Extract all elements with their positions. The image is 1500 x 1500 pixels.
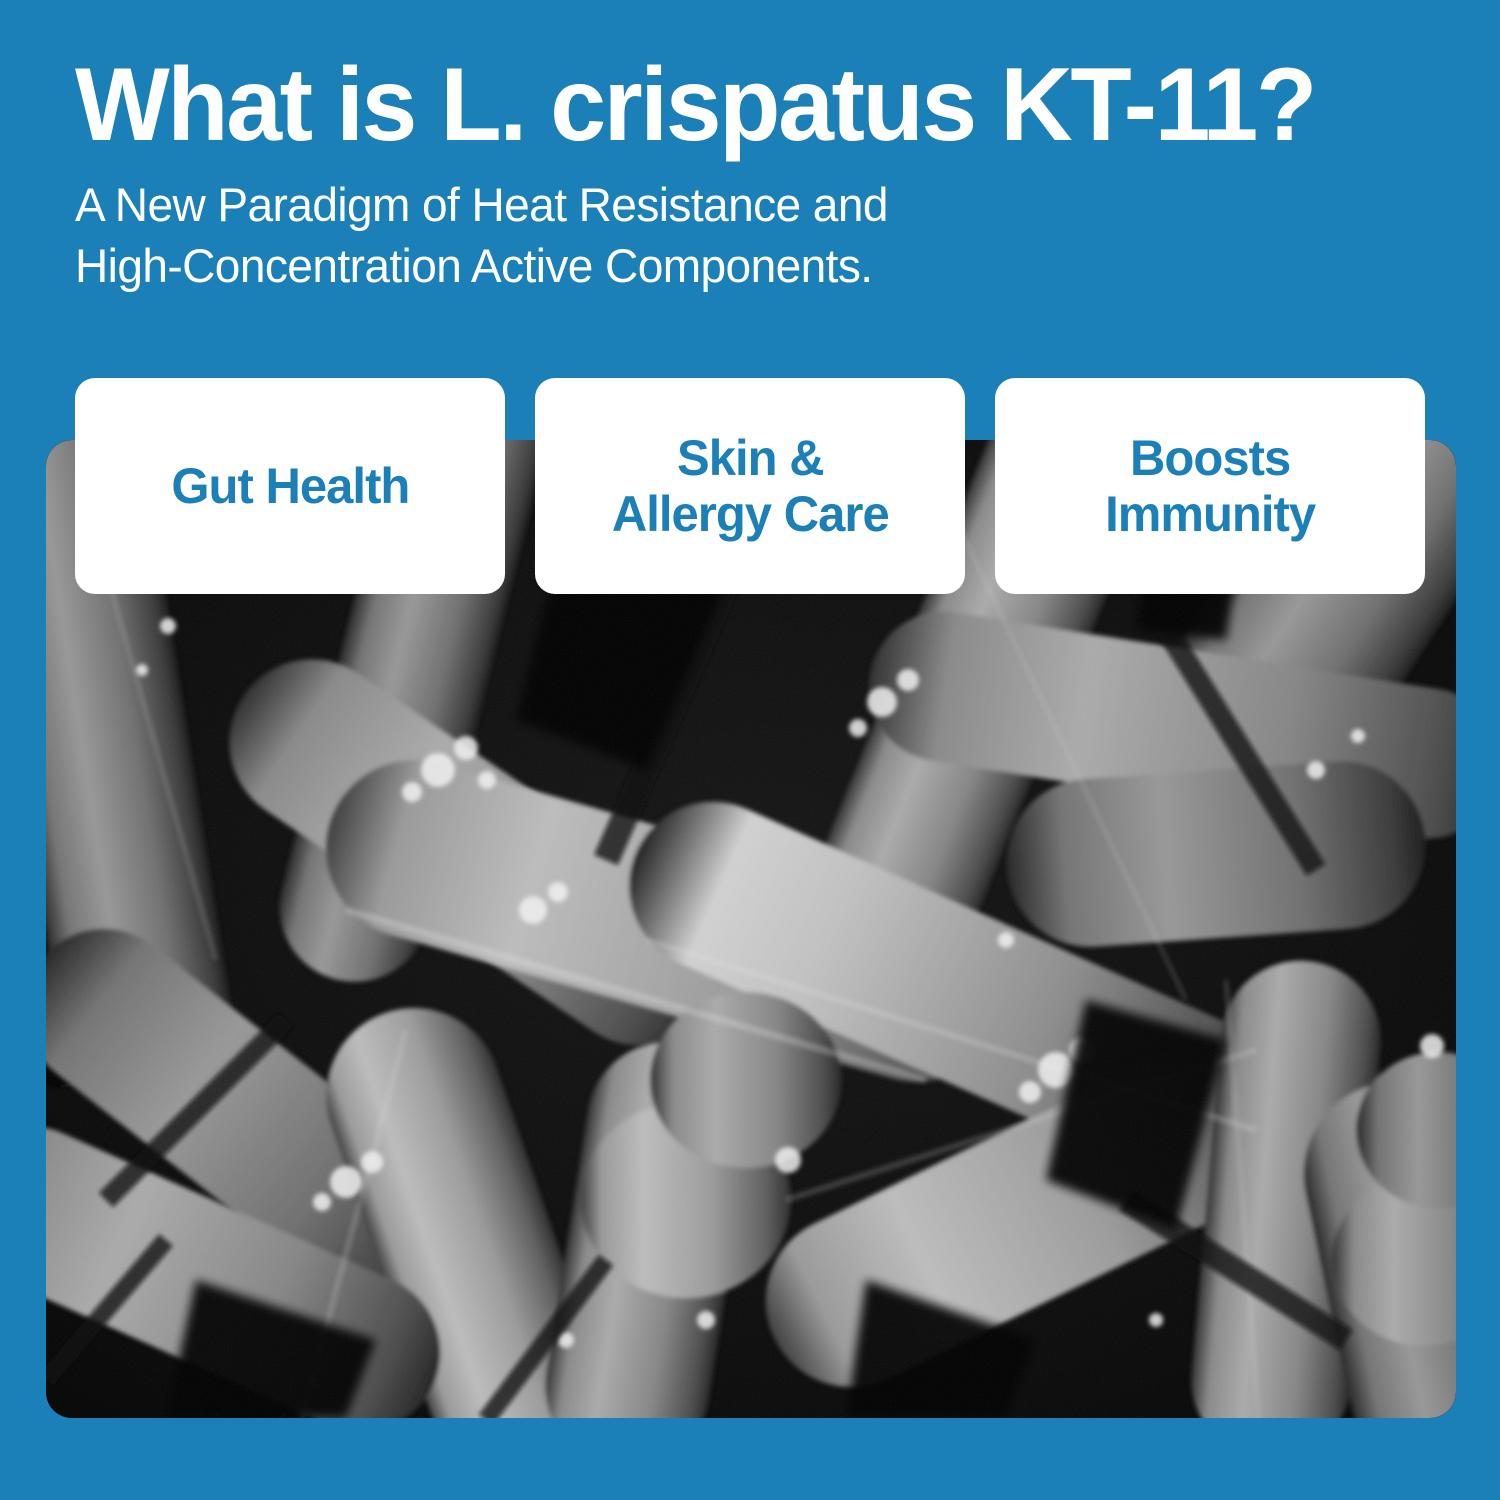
benefit-label-line: Skin & bbox=[612, 430, 889, 487]
benefit-card-boosts-immunity-label: Boosts Immunity bbox=[1105, 430, 1315, 543]
page-title: What is L. crispatus KT-11? bbox=[75, 52, 1387, 158]
benefit-label-line: Gut Health bbox=[171, 458, 409, 515]
subtitle-line-2: High-Concentration Active Components. bbox=[75, 235, 1408, 296]
benefit-card-gut-health[interactable]: Gut Health bbox=[75, 378, 505, 594]
benefit-card-row: Gut Health Skin & Allergy Care Boosts Im… bbox=[75, 378, 1425, 594]
benefit-label-line: Boosts bbox=[1105, 430, 1315, 487]
poster-canvas: What is L. crispatus KT-11? A New Paradi… bbox=[0, 0, 1500, 1500]
benefit-card-skin-allergy-care-label: Skin & Allergy Care bbox=[612, 430, 889, 543]
benefit-label-line: Immunity bbox=[1105, 486, 1315, 543]
benefit-card-skin-allergy-care[interactable]: Skin & Allergy Care bbox=[535, 378, 965, 594]
benefit-card-boosts-immunity[interactable]: Boosts Immunity bbox=[995, 378, 1425, 594]
subtitle-line-1: A New Paradigm of Heat Resistance and bbox=[75, 174, 1408, 235]
page-subtitle: A New Paradigm of Heat Resistance and Hi… bbox=[75, 174, 1408, 296]
benefit-label-line: Allergy Care bbox=[612, 486, 889, 543]
header-block: What is L. crispatus KT-11? A New Paradi… bbox=[75, 52, 1435, 296]
benefit-card-gut-health-label: Gut Health bbox=[171, 458, 409, 515]
